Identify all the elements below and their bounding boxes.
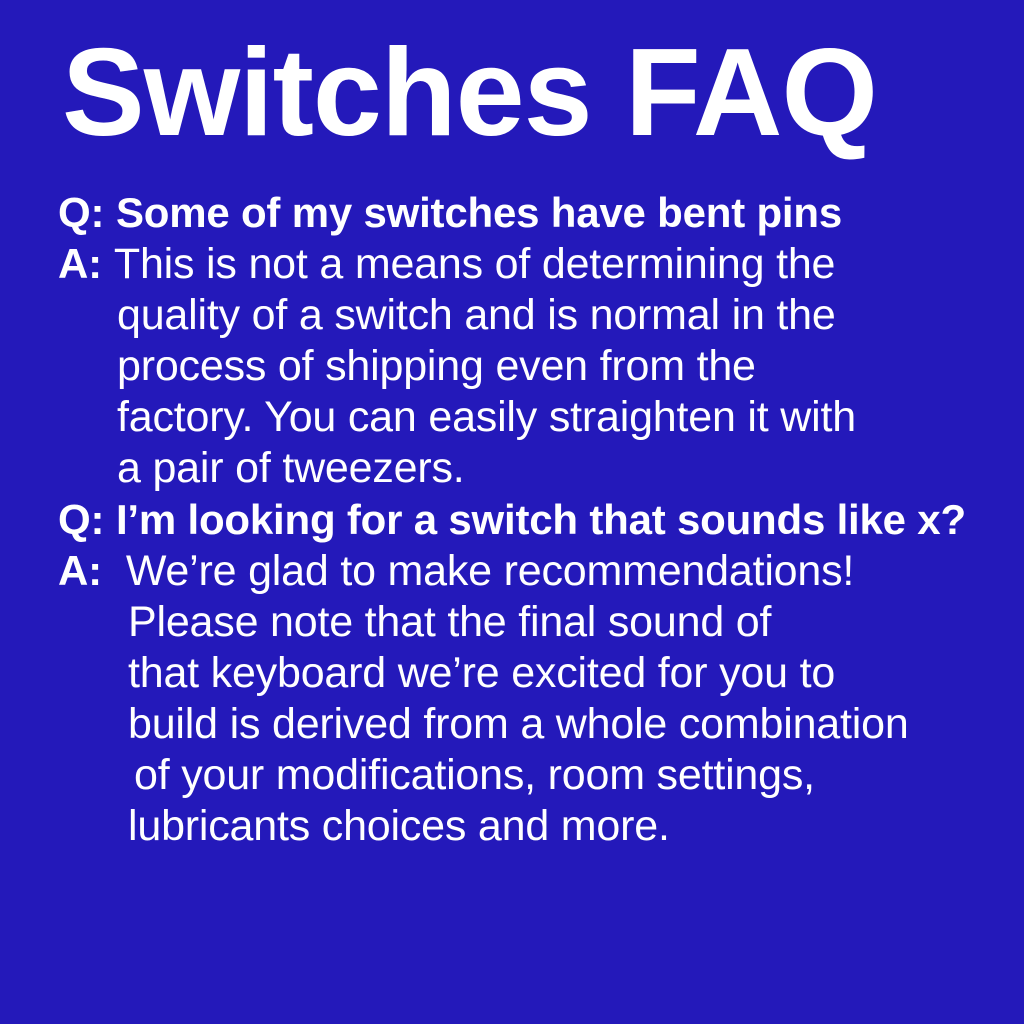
- answer-text-line: This is not a means of determining the: [114, 240, 835, 288]
- question-text: I’m looking for a switch that sounds lik…: [116, 496, 966, 543]
- answer-text-line: lubricants choices and more.: [58, 801, 1024, 852]
- answer-text-line: that keyboard we’re excited for you to: [58, 648, 1024, 699]
- answer-text-line: build is derived from a whole combinatio…: [58, 699, 1024, 750]
- question-text: Some of my switches have bent pins: [116, 189, 842, 236]
- question-label: Q:: [58, 189, 104, 236]
- faq-poster: Switches FAQ Q: Some of my switches have…: [0, 0, 1024, 1024]
- faq-answer-row: A: We’re glad to make recommendations!: [58, 545, 1024, 597]
- faq-question-row: Q: Some of my switches have bent pins: [58, 187, 1024, 238]
- faq-question-row: Q: I’m looking for a switch that sounds …: [58, 494, 1024, 545]
- faq-item: Q: Some of my switches have bent pins A:…: [58, 187, 1024, 494]
- answer-text-line: of your modifications, room settings,: [58, 750, 1024, 801]
- answer-text-line: process of shipping even from the: [58, 341, 1024, 392]
- answer-text-line: Please note that the final sound of: [58, 597, 1024, 648]
- answer-text-line: factory. You can easily straighten it wi…: [58, 392, 1024, 443]
- faq-item: Q: I’m looking for a switch that sounds …: [58, 494, 1024, 852]
- answer-text-line: a pair of tweezers.: [58, 443, 1024, 494]
- question-label: Q:: [58, 496, 104, 543]
- faq-list: Q: Some of my switches have bent pins A:…: [58, 187, 1024, 852]
- answer-label: A:: [58, 547, 102, 594]
- page-title: Switches FAQ: [62, 31, 877, 155]
- answer-text-line: We’re glad to make recommendations!: [126, 547, 854, 595]
- answer-label: A:: [58, 240, 102, 287]
- faq-answer-row: A: This is not a means of determining th…: [58, 238, 1024, 290]
- answer-text-line: quality of a switch and is normal in the: [58, 290, 1024, 341]
